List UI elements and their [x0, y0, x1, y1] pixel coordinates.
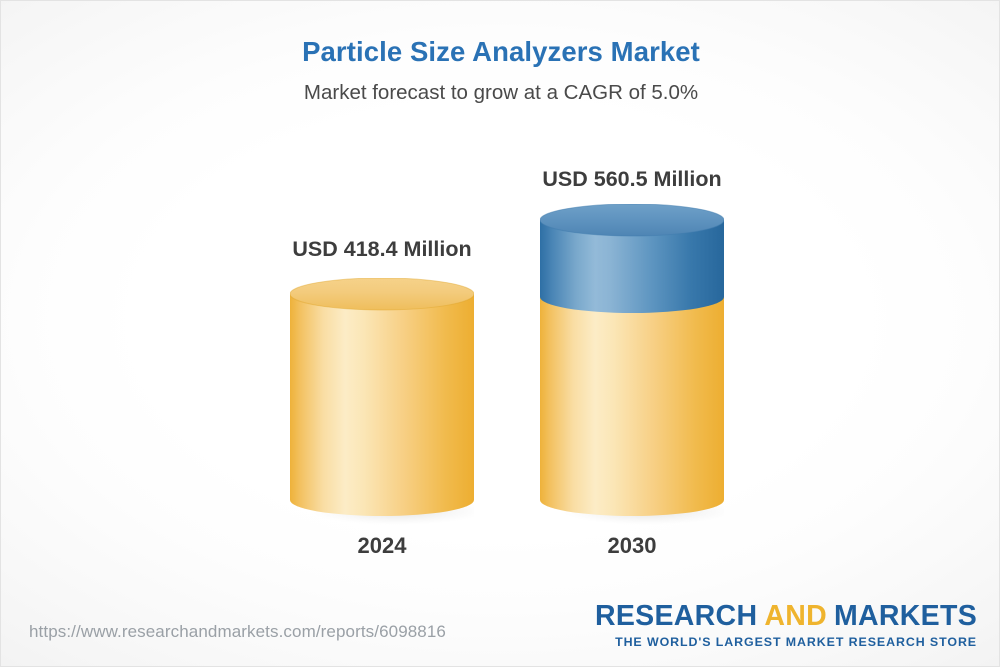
plot-area: USD 418.4 Million — [1, 1, 1000, 667]
category-label-2030: 2030 — [540, 533, 724, 559]
bar-value-label-2024: USD 418.4 Million — [212, 237, 552, 262]
brand-tagline: THE WORLD'S LARGEST MARKET RESEARCH STOR… — [595, 634, 977, 650]
brand-word-and: AND — [764, 600, 827, 632]
chart-card: Particle Size Analyzers Market Market fo… — [0, 0, 1000, 667]
cylinder-2024-svg — [290, 278, 474, 526]
cylinder-2030-svg — [540, 204, 724, 526]
cylinder-bar-2030 — [540, 204, 724, 514]
category-label-2024: 2024 — [290, 533, 474, 559]
brand-logo[interactable]: RESEARCHANDMARKETS THE WORLD'S LARGEST M… — [595, 601, 977, 650]
brand-word-research: RESEARCH — [595, 600, 757, 632]
report-url[interactable]: https://www.researchandmarkets.com/repor… — [29, 622, 446, 642]
bar-value-label-2030: USD 560.5 Million — [462, 167, 802, 192]
cylinder-bar-2024 — [290, 278, 474, 514]
cylinder-2030-base-segment — [540, 297, 724, 516]
brand-word-markets: MARKETS — [834, 600, 977, 632]
brand-wordmark: RESEARCHANDMARKETS — [595, 601, 977, 632]
